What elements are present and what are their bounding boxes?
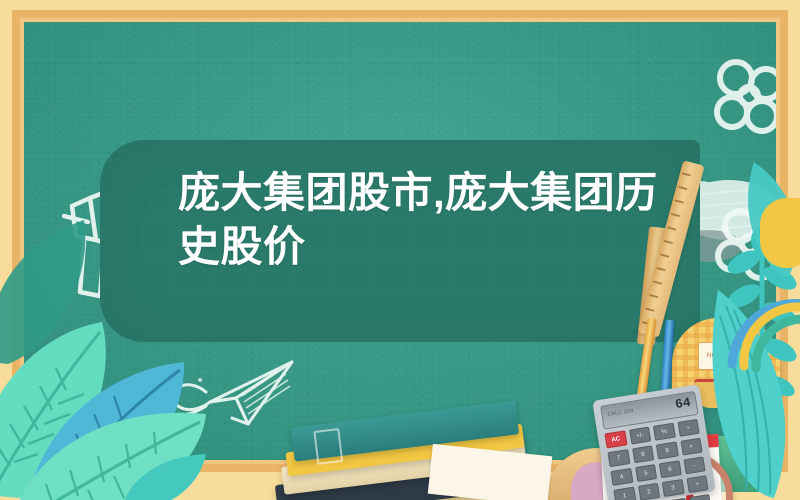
calculator: CALC 200 64 AC +/- % ÷ 7 8 9 × 4 5 6 - — [592, 384, 716, 500]
calculator-keypad: AC +/- % ÷ 7 8 9 × 4 5 6 - 1 2 3 + — [604, 419, 712, 500]
yellow-shape — [760, 198, 800, 268]
calculator-key[interactable]: 3 — [662, 479, 685, 497]
calculator-key[interactable]: +/- — [629, 427, 652, 445]
calculator-brand: CALC 200 — [607, 408, 634, 418]
book-label — [313, 428, 343, 465]
cover-image: 庞大集团股市,庞大集团历史股价 NOTE BOOK — [0, 0, 800, 500]
leaf-dark-top — [0, 216, 100, 371]
calculator-key[interactable]: 4 — [610, 468, 633, 486]
leaf-teal-small — [120, 452, 210, 500]
calculator-key[interactable]: 2 — [638, 483, 661, 500]
calculator-key[interactable]: 6 — [659, 460, 682, 478]
calculator-key[interactable]: 7 — [607, 449, 630, 467]
calculator-key[interactable]: ÷ — [677, 419, 700, 437]
calculator-key[interactable]: % — [653, 423, 676, 441]
calculator-key[interactable]: 8 — [632, 445, 655, 463]
calculator-key[interactable]: 9 — [656, 441, 679, 459]
calculator-key[interactable]: 5 — [635, 464, 658, 482]
calculator-key[interactable]: 1 — [613, 487, 636, 500]
calculator-key-ac[interactable]: AC — [604, 430, 627, 448]
flower-large-icon — [696, 44, 776, 154]
calculator-display-value: 64 — [674, 395, 692, 412]
title-panel: 庞大集团股市,庞大集团历史股价 — [100, 140, 700, 342]
page-title: 庞大集团股市,庞大集团历史股价 — [178, 166, 658, 274]
